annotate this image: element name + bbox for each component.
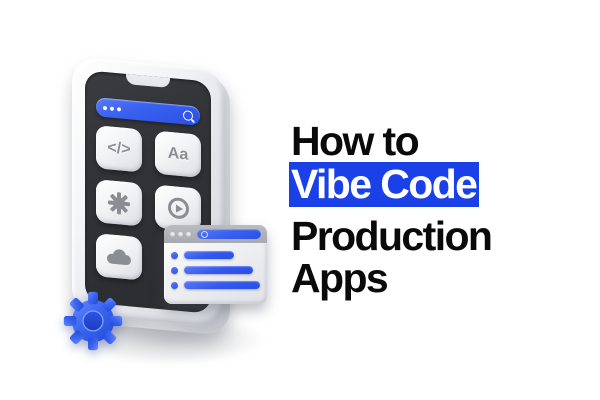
settings-app-icon[interactable] [96, 179, 142, 226]
list-bar [184, 281, 260, 289]
gear-icon [109, 192, 129, 214]
phone-search-bar[interactable] [96, 97, 200, 125]
blue-gear-icon [62, 290, 124, 352]
illustration-3d-phone: </> Aa [50, 45, 285, 355]
cloud-icon [107, 248, 131, 265]
headline-line-2-highlight: Vibe Code [289, 162, 479, 207]
headline-line-3: Production [291, 215, 561, 257]
headline: How to Vibe Code Production Apps [291, 120, 561, 299]
browser-titlebar [164, 225, 267, 243]
text-app-icon[interactable]: Aa [155, 131, 201, 178]
list-bullet-icon [171, 267, 178, 274]
search-bar-dots [103, 105, 121, 111]
list-item[interactable] [171, 281, 260, 289]
search-icon [183, 110, 193, 121]
browser-address-bar[interactable] [197, 229, 261, 239]
play-icon [168, 197, 189, 220]
list-item[interactable] [171, 266, 260, 274]
list-bar [184, 251, 234, 259]
browser-list [164, 243, 267, 289]
list-bullet-icon [171, 282, 178, 289]
window-control-dots[interactable] [170, 232, 191, 237]
cloud-app-icon[interactable] [96, 233, 142, 280]
code-app-icon-label: </> [107, 140, 130, 158]
headline-line-4: Apps [291, 257, 561, 299]
list-bullet-icon [171, 252, 178, 259]
headline-line-1: How to [291, 120, 561, 162]
search-icon [201, 231, 208, 238]
list-bar [184, 266, 253, 274]
list-item[interactable] [171, 251, 260, 259]
poster-canvas: </> Aa [0, 0, 600, 400]
code-app-icon[interactable]: </> [96, 125, 142, 172]
headline-line-2-wrap: Vibe Code [291, 162, 561, 215]
browser-window-card[interactable] [164, 225, 267, 304]
text-app-icon-label: Aa [168, 145, 188, 163]
